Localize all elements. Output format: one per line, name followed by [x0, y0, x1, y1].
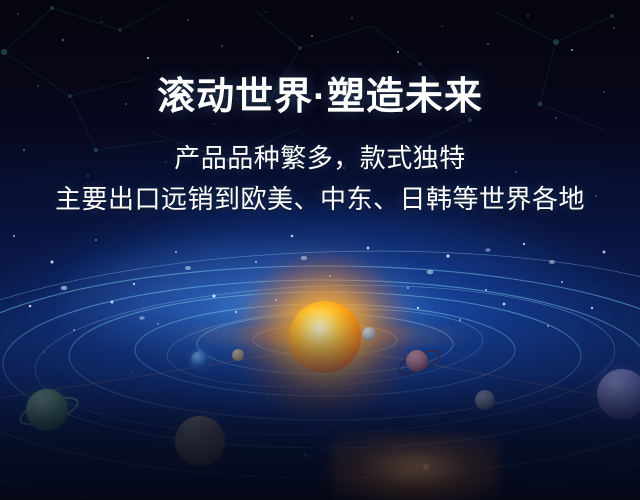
subtitle-line-2: 主要出口远销到欧美、中东、日韩等世界各地 — [0, 173, 640, 214]
subtitle-line-1: 产品品种繁多，款式独特 — [0, 116, 640, 173]
space-hero-banner: 滚动世界·塑造未来 产品品种繁多，款式独特 主要出口远销到欧美、中东、日韩等世界… — [0, 0, 640, 500]
hero-text-block: 滚动世界·塑造未来 产品品种繁多，款式独特 主要出口远销到欧美、中东、日韩等世界… — [0, 0, 640, 213]
page-title: 滚动世界·塑造未来 — [0, 0, 640, 116]
lens-flare — [330, 432, 500, 500]
